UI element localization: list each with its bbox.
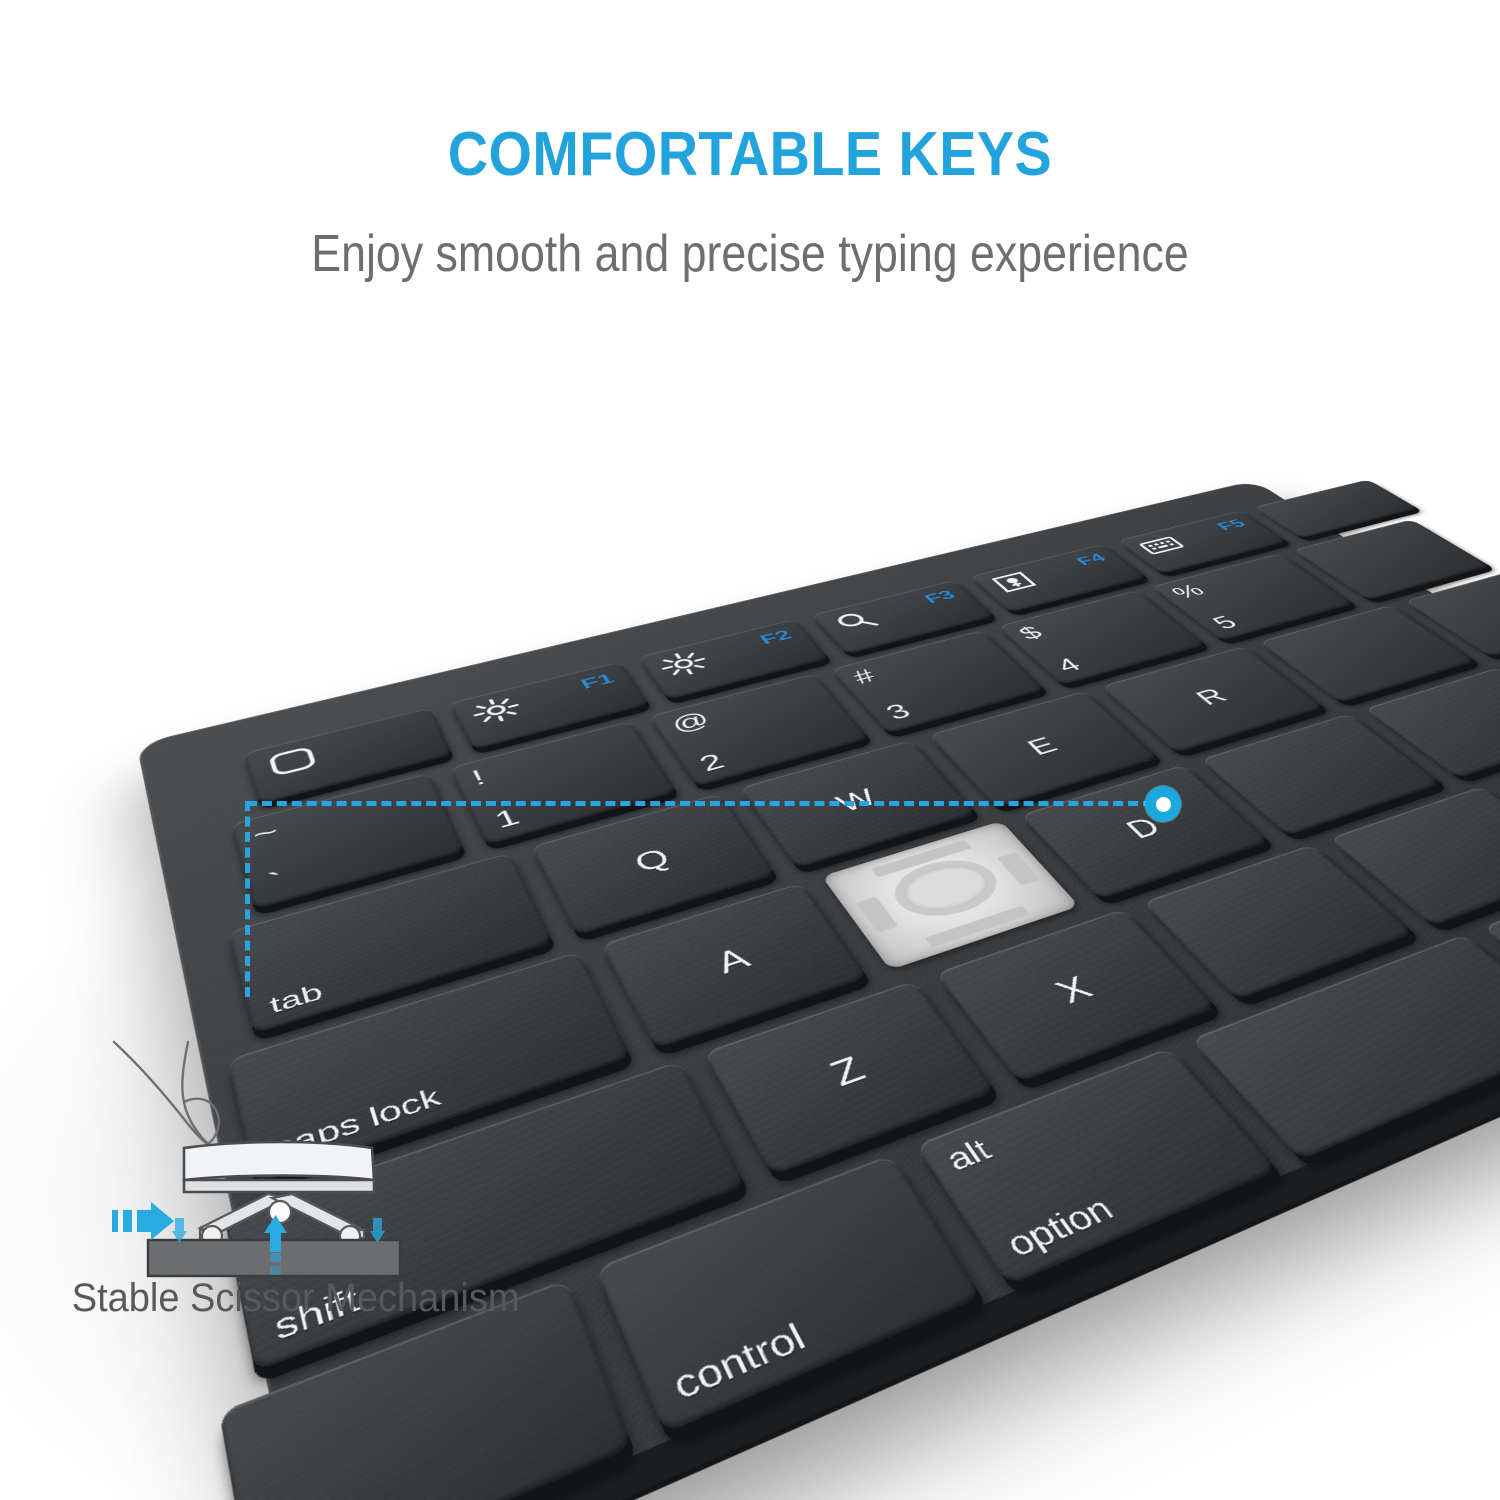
key-alt-label: alt [941, 1134, 997, 1175]
product-feature-banner: COMFORTABLE KEYS Enjoy smooth and precis… [0, 0, 1500, 1500]
callout-marker-core [1156, 797, 1171, 812]
finger-illustration [114, 1042, 219, 1146]
page-title: COMFORTABLE KEYS [75, 124, 1425, 186]
callout-leader-horizontal [247, 801, 1153, 806]
callout-leader-vertical [245, 801, 250, 997]
scissor-linkage [200, 1194, 364, 1246]
keycap-cross-section [184, 1142, 374, 1192]
side-force-arrow [112, 1202, 174, 1240]
callout-marker-dot[interactable] [1145, 786, 1181, 822]
scissor-mechanism-diagram [92, 1040, 452, 1290]
scissor-mechanism-caption: Stable Scissor Mechanism [72, 1278, 519, 1318]
